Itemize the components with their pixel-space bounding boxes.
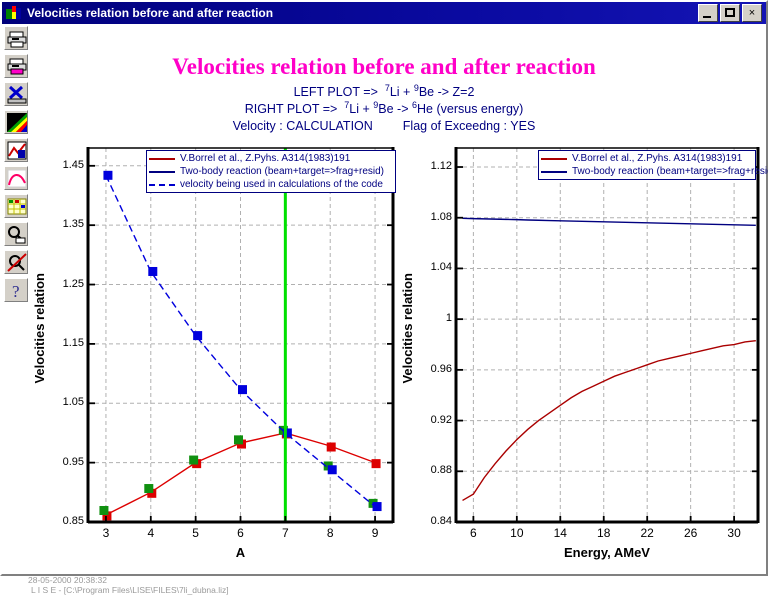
left-plot-ylabel: Velocities relation (32, 273, 47, 384)
left-plot-marker (234, 435, 243, 444)
right-plot-legend-item: Two-body reaction (beam+target=>frag+res… (541, 165, 752, 178)
minimize-button[interactable] (698, 4, 718, 22)
zoom-out-icon[interactable] (4, 222, 28, 246)
left-plot-xtick: 8 (315, 526, 345, 540)
help-icon[interactable]: ? (4, 278, 28, 302)
left-plot-ytick: 1.35 (44, 218, 84, 230)
print-icon[interactable] (4, 26, 28, 50)
left-plot-xtick: 6 (226, 526, 256, 540)
right-plot-ylabel: Velocities relation (400, 273, 415, 384)
plot-options-icon[interactable] (4, 138, 28, 162)
right-plot-xlabel: Energy, AMeV (456, 545, 758, 560)
right-plot-ytick: 0.88 (412, 464, 452, 476)
right-plot-ytick: 0.92 (412, 414, 452, 426)
table-icon[interactable] (4, 194, 28, 218)
left-plot-legend: V.Borrel et al., Z.Pyhs. A314(1983)191Tw… (146, 150, 396, 193)
right-plot-ytick: 1.08 (412, 211, 452, 223)
left-plot-description: LEFT PLOT => 7Li + 9Be -> Z=2 (2, 85, 766, 99)
left-plot-marker (99, 506, 108, 515)
right-plot-ytick: 1.04 (412, 261, 452, 273)
left-plot-xtick: 7 (270, 526, 300, 540)
legend-label: Two-body reaction (beam+target=>frag+res… (180, 166, 384, 177)
right-plot-label: RIGHT PLOT => (245, 102, 338, 116)
window-buttons: × (698, 4, 764, 22)
lise-app-icon (6, 6, 22, 21)
right-plot-mid2: Be -> (378, 102, 412, 116)
left-plot-ytick: 0.95 (44, 456, 84, 468)
left-plot-ytick: 1.45 (44, 159, 84, 171)
right-plot-legend-item: V.Borrel et al., Z.Pyhs. A314(1983)191 (541, 152, 752, 165)
right-plot-xtick: 6 (458, 526, 488, 540)
left-plot-ytick: 1.15 (44, 337, 84, 349)
status-timestamp: 28-05-2000 20:38:32 (28, 575, 107, 585)
right-plot-ytick: 0.96 (412, 363, 452, 375)
left-plot-xlabel: A (88, 545, 393, 560)
right-plot-xtick: 18 (589, 526, 619, 540)
legend-label: velocity being used in calculations of t… (180, 179, 383, 190)
left-plot-label: LEFT PLOT => (294, 85, 378, 99)
right-plot[interactable]: 0.840.880.920.9611.041.081.1261014182226… (398, 124, 766, 572)
left-plot-marker (238, 385, 247, 394)
svg-text:?: ? (12, 282, 20, 301)
left-plot-marker (189, 456, 198, 465)
right-plot-xtick: 30 (719, 526, 749, 540)
right-plot-xtick: 26 (676, 526, 706, 540)
right-plot-canvas (398, 124, 766, 572)
left-plot-marker (193, 331, 202, 340)
maximize-button[interactable] (720, 4, 740, 22)
right-plot-description: RIGHT PLOT => 7Li + 9Be -> 6He (versus e… (2, 102, 766, 116)
right-plot-legend: V.Borrel et al., Z.Pyhs. A314(1983)191Tw… (538, 150, 756, 180)
left-plot-xtick: 3 (91, 526, 121, 540)
left-plot-xtick: 4 (136, 526, 166, 540)
window-title: Velocities relation before and after rea… (27, 6, 273, 20)
left-plot-marker (373, 502, 382, 511)
close-button[interactable]: × (742, 4, 762, 22)
right-plot-xtick: 14 (545, 526, 575, 540)
legend-label: V.Borrel et al., Z.Pyhs. A314(1983)191 (180, 153, 350, 164)
client-area: ? Velocities relation before and after r… (2, 24, 766, 572)
left-plot[interactable]: 0.850.951.051.151.251.351.453456789Veloc… (30, 124, 400, 572)
right-plot-ytick: 0.84 (412, 515, 452, 527)
legend-label: V.Borrel et al., Z.Pyhs. A314(1983)191 (572, 153, 742, 164)
right-plot-mid: Li + (349, 102, 373, 116)
status-file-path: L I S E - [C:\Program Files\LISE\FILES\7… (31, 585, 229, 595)
left-plot-marker (148, 267, 157, 276)
left-plot-marker (144, 484, 153, 493)
right-plot-post: He (versus energy) (417, 102, 523, 116)
right-plot-ytick: 1 (412, 312, 452, 324)
right-plot-xtick: 22 (632, 526, 662, 540)
legend-label: Two-body reaction (beam+target=>frag+res… (572, 166, 768, 177)
left-plot-xtick: 5 (181, 526, 211, 540)
left-plot-ytick: 0.85 (44, 515, 84, 527)
app-window: Velocities relation before and after rea… (0, 0, 768, 576)
left-plot-reaction-post: Be -> Z=2 (419, 85, 475, 99)
left-plot-marker (327, 443, 336, 452)
left-plot-reaction-pre: Li + (390, 85, 414, 99)
left-plot-marker (372, 459, 381, 468)
left-plot-ytick: 1.25 (44, 278, 84, 290)
close-icon: × (743, 5, 761, 21)
curve-icon[interactable] (4, 166, 28, 190)
page-title: Velocities relation before and after rea… (2, 54, 766, 80)
left-plot-legend-item: V.Borrel et al., Z.Pyhs. A314(1983)191 (149, 152, 392, 165)
no-zoom-icon[interactable] (4, 250, 28, 274)
left-plot-ytick: 1.05 (44, 396, 84, 408)
left-plot-xtick: 9 (360, 526, 390, 540)
left-plot-legend-item: Two-body reaction (beam+target=>frag+res… (149, 165, 392, 178)
right-plot-xtick: 10 (502, 526, 532, 540)
left-plot-marker (328, 465, 337, 474)
left-plot-marker (103, 171, 112, 180)
left-plot-legend-item: velocity being used in calculations of t… (149, 178, 392, 191)
right-plot-ytick: 1.12 (412, 160, 452, 172)
title-bar[interactable]: Velocities relation before and after rea… (2, 2, 766, 24)
